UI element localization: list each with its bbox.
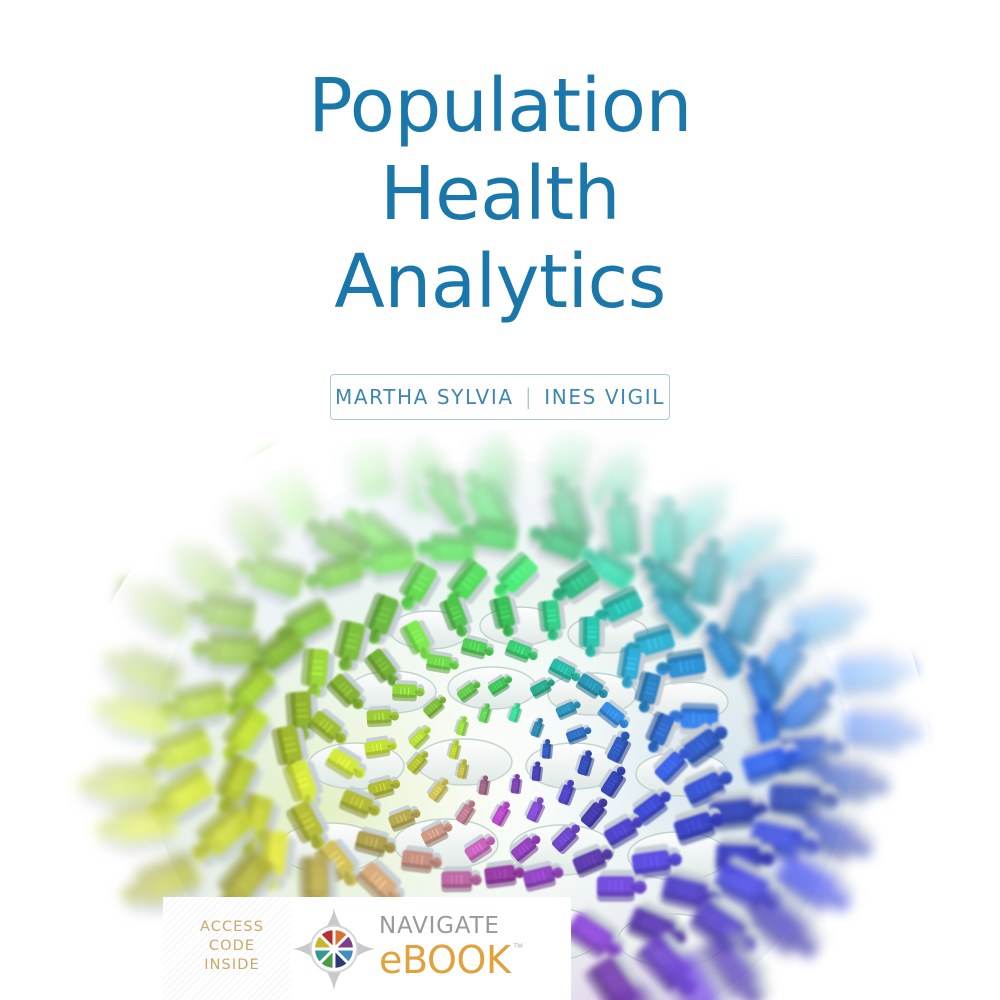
navigate-ebook-wordmark: NAVIGATE eBOOK ™	[379, 913, 511, 981]
book-cover: Population Health Analytics MARTHA SYLVI…	[0, 0, 1000, 1000]
trademark-icon: ™	[513, 942, 524, 954]
author-first: MARTHA SYLVIA	[335, 385, 514, 409]
author-second: INES VIGIL	[544, 385, 665, 409]
ebook-word: eBOOK	[379, 939, 511, 981]
author-separator: |	[525, 385, 534, 409]
navigate-compass-icon	[291, 906, 377, 992]
navigate-ebook-badge: ACCESS CODE INSIDE	[163, 897, 571, 1000]
title-line-1: Population	[0, 62, 1000, 150]
navigate-word: NAVIGATE	[379, 913, 511, 939]
title-line-2: Health	[0, 150, 1000, 238]
author-names: MARTHA SYLVIA | INES VIGIL	[335, 385, 665, 409]
access-code-inside-label: ACCESS CODE INSIDE	[173, 918, 291, 975]
access-code-line-3: INSIDE	[204, 957, 260, 973]
access-code-line-1: ACCESS	[200, 919, 264, 935]
title-line-3: Analytics	[0, 238, 1000, 326]
page-title: Population Health Analytics	[0, 62, 1000, 326]
badge-content: ACCESS CODE INSIDE	[163, 897, 571, 1000]
ebook-wrap: eBOOK ™	[379, 939, 511, 981]
access-code-line-2: CODE	[209, 938, 255, 954]
author-byline-box: MARTHA SYLVIA | INES VIGIL	[330, 374, 670, 420]
